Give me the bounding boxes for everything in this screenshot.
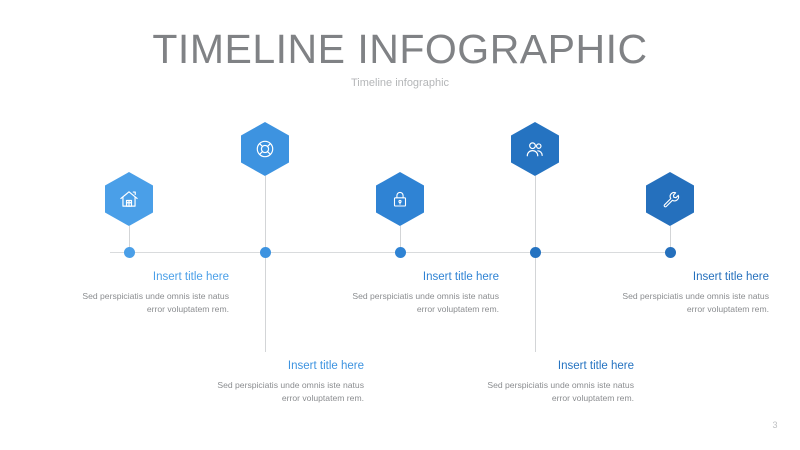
node-connector-line	[265, 176, 266, 252]
node-title: Insert title here	[484, 360, 634, 372]
node-body-text: Sed perspiciatis unde omnis iste natus e…	[349, 290, 499, 316]
node-body-text: Sed perspiciatis unde omnis iste natus e…	[214, 379, 364, 405]
node-title: Insert title here	[79, 271, 229, 283]
slide-canvas: TIMELINE INFOGRAPHIC Timeline infographi…	[0, 0, 800, 450]
node-text-block: Insert title hereSed perspiciatis unde o…	[484, 360, 634, 405]
lifebuoy-icon	[254, 138, 276, 160]
node-hexagon[interactable]	[376, 172, 424, 226]
node-connector-line	[535, 176, 536, 252]
node-hexagon[interactable]	[646, 172, 694, 226]
node-dot[interactable]	[124, 247, 135, 258]
node-title: Insert title here	[214, 360, 364, 372]
node-hexagon[interactable]	[511, 122, 559, 176]
node-body-text: Sed perspiciatis unde omnis iste natus e…	[79, 290, 229, 316]
timeline-axis	[110, 252, 676, 253]
wrench-icon	[660, 189, 681, 210]
node-dot[interactable]	[260, 247, 271, 258]
node-text-block: Insert title hereSed perspiciatis unde o…	[349, 271, 499, 316]
home-icon	[118, 188, 140, 210]
node-text-block: Insert title hereSed perspiciatis unde o…	[79, 271, 229, 316]
node-text-block: Insert title hereSed perspiciatis unde o…	[214, 360, 364, 405]
node-hexagon[interactable]	[105, 172, 153, 226]
lock-icon	[390, 189, 410, 209]
node-dot[interactable]	[665, 247, 676, 258]
node-connector-line-lower	[535, 252, 536, 352]
node-title: Insert title here	[619, 271, 769, 283]
node-title: Insert title here	[349, 271, 499, 283]
node-hexagon[interactable]	[241, 122, 289, 176]
node-body-text: Sed perspiciatis unde omnis iste natus e…	[619, 290, 769, 316]
page-number: 3	[764, 414, 786, 436]
node-connector-line-lower	[265, 252, 266, 352]
page-title: TIMELINE INFOGRAPHIC	[0, 26, 800, 73]
users-icon	[524, 138, 546, 160]
page-subtitle: Timeline infographic	[0, 77, 800, 89]
node-body-text: Sed perspiciatis unde omnis iste natus e…	[484, 379, 634, 405]
node-text-block: Insert title hereSed perspiciatis unde o…	[619, 271, 769, 316]
node-dot[interactable]	[395, 247, 406, 258]
node-dot[interactable]	[530, 247, 541, 258]
